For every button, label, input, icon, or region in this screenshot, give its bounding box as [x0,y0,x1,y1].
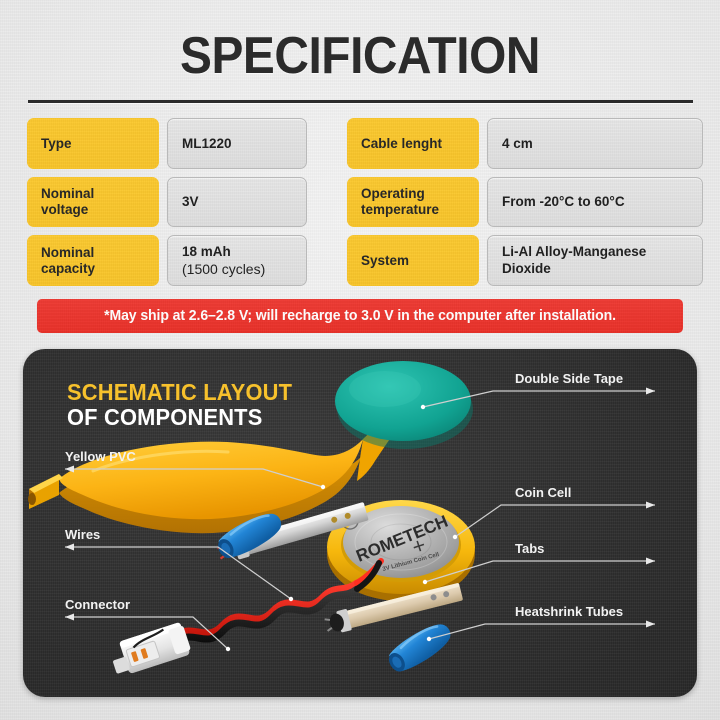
shipping-note-banner: *May ship at 2.6–2.8 V; will recharge to… [37,299,683,333]
double-side-tape-part [335,361,473,449]
spec-value-text: 18 mAh [182,244,265,260]
spec-label-type: Type [27,118,159,169]
spec-value-type: ML1220 [167,118,307,169]
spec-value-text: 3V [182,194,199,210]
spec-label-text: Operating temperature [361,186,465,217]
spec-value-nominal-capacity: 18 mAh (1500 cycles) [167,235,307,286]
shipping-note-text: *May ship at 2.6–2.8 V; will recharge to… [104,308,616,324]
spec-value-operating-temperature: From -20°C to 60°C [487,177,703,228]
spec-label-text: Cable lenght [361,136,442,152]
leader-heatshrink-tubes [429,624,655,639]
spec-label-cable-length: Cable lenght [347,118,479,169]
spec-label-text: Type [41,136,72,152]
spec-label-nominal-capacity: Nominal capacity [27,235,159,286]
callout-heatshrink-tubes: Heatshrink Tubes [515,604,623,619]
spec-label-nominal-voltage: Nominal voltage [27,177,159,228]
schematic-panel: SCHEMATIC LAYOUT OF COMPONENTS [23,349,697,697]
pvc-cable-channel [28,474,63,509]
spec-value-system: Li-Al Alloy-Manganese Dioxide [487,235,703,286]
callout-yellow-pvc: Yellow PVC [65,449,136,464]
spec-label-text: System [361,253,409,269]
callout-wires: Wires [65,527,100,542]
spec-value-text: ML1220 [182,136,232,152]
spec-label-text: Nominal voltage [41,186,145,217]
leader-coin-cell [455,505,655,537]
spec-value-text: 4 cm [502,136,533,152]
spec-value-nominal-voltage: 3V [167,177,307,228]
spec-value-cable-length: 4 cm [487,118,703,169]
spec-label-system: System [347,235,479,286]
specification-table: Type ML1220 Cable lenght 4 cm Nominal vo… [27,118,693,286]
callout-coin-cell: Coin Cell [515,485,571,500]
page-title: SPECIFICATION [29,26,691,86]
spec-label-text: Nominal capacity [41,245,145,276]
spec-value-subtext: (1500 cycles) [182,261,265,277]
leader-wires [65,547,291,599]
table-gap [315,235,339,286]
callout-tabs: Tabs [515,541,544,556]
heatshrink-tube-lower-part [383,617,456,677]
callout-connector: Connector [65,597,130,612]
table-gap [315,177,339,228]
spec-value-text: From -20°C to 60°C [502,194,625,210]
spec-label-operating-temperature: Operating temperature [347,177,479,228]
exploded-diagram-art: ROMETECH + 3V Lithium Coin Cell [23,349,697,697]
callout-double-side-tape: Double Side Tape [515,371,623,386]
spec-value-text: Li-Al Alloy-Manganese Dioxide [502,244,688,278]
title-divider [28,100,693,103]
connector-part [108,621,193,677]
table-gap [315,118,339,169]
